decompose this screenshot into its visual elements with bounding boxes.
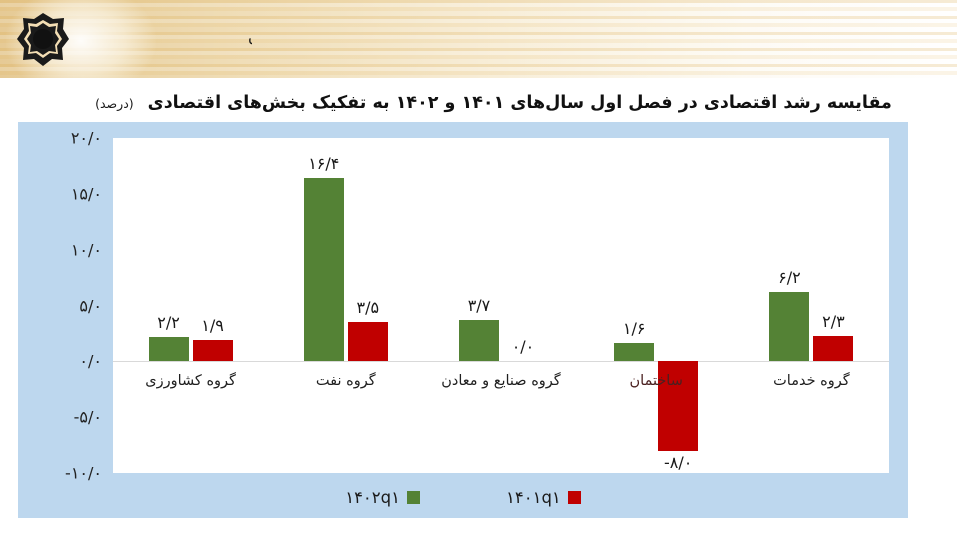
- legend-item[interactable]: ۱۴۰۲q۱: [345, 488, 420, 507]
- bar-series-a[interactable]: [813, 336, 853, 362]
- bar-series-a[interactable]: [193, 340, 233, 361]
- bar-series-b[interactable]: [459, 320, 499, 361]
- legend-item[interactable]: ۱۴۰۱q۱: [506, 488, 581, 507]
- svg-text:بانک مرکزی جمهوری اسلامی ایران: بانک مرکزی جمهوری اسلامی ایران: [248, 28, 252, 47]
- bar-series-b[interactable]: [304, 178, 344, 361]
- bar-series-b[interactable]: [614, 343, 654, 361]
- header-banner: بانک مرکزی جمهوری اسلامی ایران: [0, 0, 957, 78]
- bar-value-label: ۱/۶: [604, 319, 664, 338]
- plot-frame: ۱/۹۲/۲گروه کشاورزی۳/۵۱۶/۴گروه نفت۰/۰۳/۷گ…: [113, 138, 889, 473]
- y-axis-tick-label: ۱۵/۰: [71, 184, 102, 203]
- x-axis-category-label: گروه کشاورزی: [113, 373, 268, 389]
- bar-group: ۰/۰۳/۷گروه صنایع و معادن: [423, 138, 578, 473]
- bar-value-label: ۳/۷: [449, 296, 509, 315]
- bar-group: -۸/۰۱/۶ساختمان: [579, 138, 734, 473]
- x-axis-category-label: گروه صنایع و معادن: [423, 373, 578, 389]
- y-axis-tick-label: ۰/۰: [79, 352, 102, 371]
- legend-swatch: [407, 491, 420, 504]
- bar-value-label: -۸/۰: [648, 453, 708, 472]
- x-axis-category-label: گروه خدمات: [734, 373, 889, 389]
- y-axis: ۲۰/۰۱۵/۰۱۰/۰۵/۰۰/۰-۵/۰-۱۰/۰: [18, 138, 110, 473]
- chart-panel: ۲۰/۰۱۵/۰۱۰/۰۵/۰۰/۰-۵/۰-۱۰/۰ ۱/۹۲/۲گروه ک…: [18, 122, 908, 518]
- bar-value-label: ۲/۲: [139, 313, 199, 332]
- bar-group: ۳/۵۱۶/۴گروه نفت: [268, 138, 423, 473]
- bar-series-b[interactable]: [149, 337, 189, 362]
- x-axis-category-label: گروه نفت: [268, 373, 423, 389]
- chart-title-row: مقایسه رشد اقتصادی در فصل اول سال‌های ۱۴…: [0, 86, 957, 120]
- legend-swatch: [568, 491, 581, 504]
- bar-value-label: ۲/۳: [803, 312, 863, 331]
- x-axis-category-label: ساختمان: [579, 373, 734, 389]
- y-axis-tick-label: -۵/۰: [74, 408, 102, 427]
- legend-label: ۱۴۰۱q۱: [506, 488, 561, 507]
- bar-group: ۲/۳۶/۲گروه خدمات: [734, 138, 889, 473]
- bank-name-calligraphy: بانک مرکزی جمهوری اسلامی ایران: [52, 8, 252, 66]
- y-axis-tick-label: ۵/۰: [79, 296, 102, 315]
- bar-value-label: ۱۶/۴: [294, 154, 354, 173]
- chart-legend: ۱۴۰۱q۱۱۴۰۲q۱: [18, 482, 908, 512]
- chart-title: مقایسه رشد اقتصادی در فصل اول سال‌های ۱۴…: [148, 93, 892, 113]
- bar-series-a[interactable]: [348, 322, 388, 361]
- bar-value-label: ۰/۰: [493, 337, 553, 356]
- legend-label: ۱۴۰۲q۱: [345, 488, 400, 507]
- y-axis-tick-label: -۱۰/۰: [65, 464, 102, 483]
- bar-series-b[interactable]: [769, 292, 809, 361]
- bar-group: ۱/۹۲/۲گروه کشاورزی: [113, 138, 268, 473]
- y-axis-tick-label: ۱۰/۰: [71, 240, 102, 259]
- bar-value-label: ۳/۵: [338, 298, 398, 317]
- chart-unit-label: (درصد): [95, 96, 134, 111]
- bar-value-label: ۶/۲: [759, 268, 819, 287]
- plot-area: ۱/۹۲/۲گروه کشاورزی۳/۵۱۶/۴گروه نفت۰/۰۳/۷گ…: [113, 138, 889, 473]
- y-axis-tick-label: ۲۰/۰: [71, 129, 102, 148]
